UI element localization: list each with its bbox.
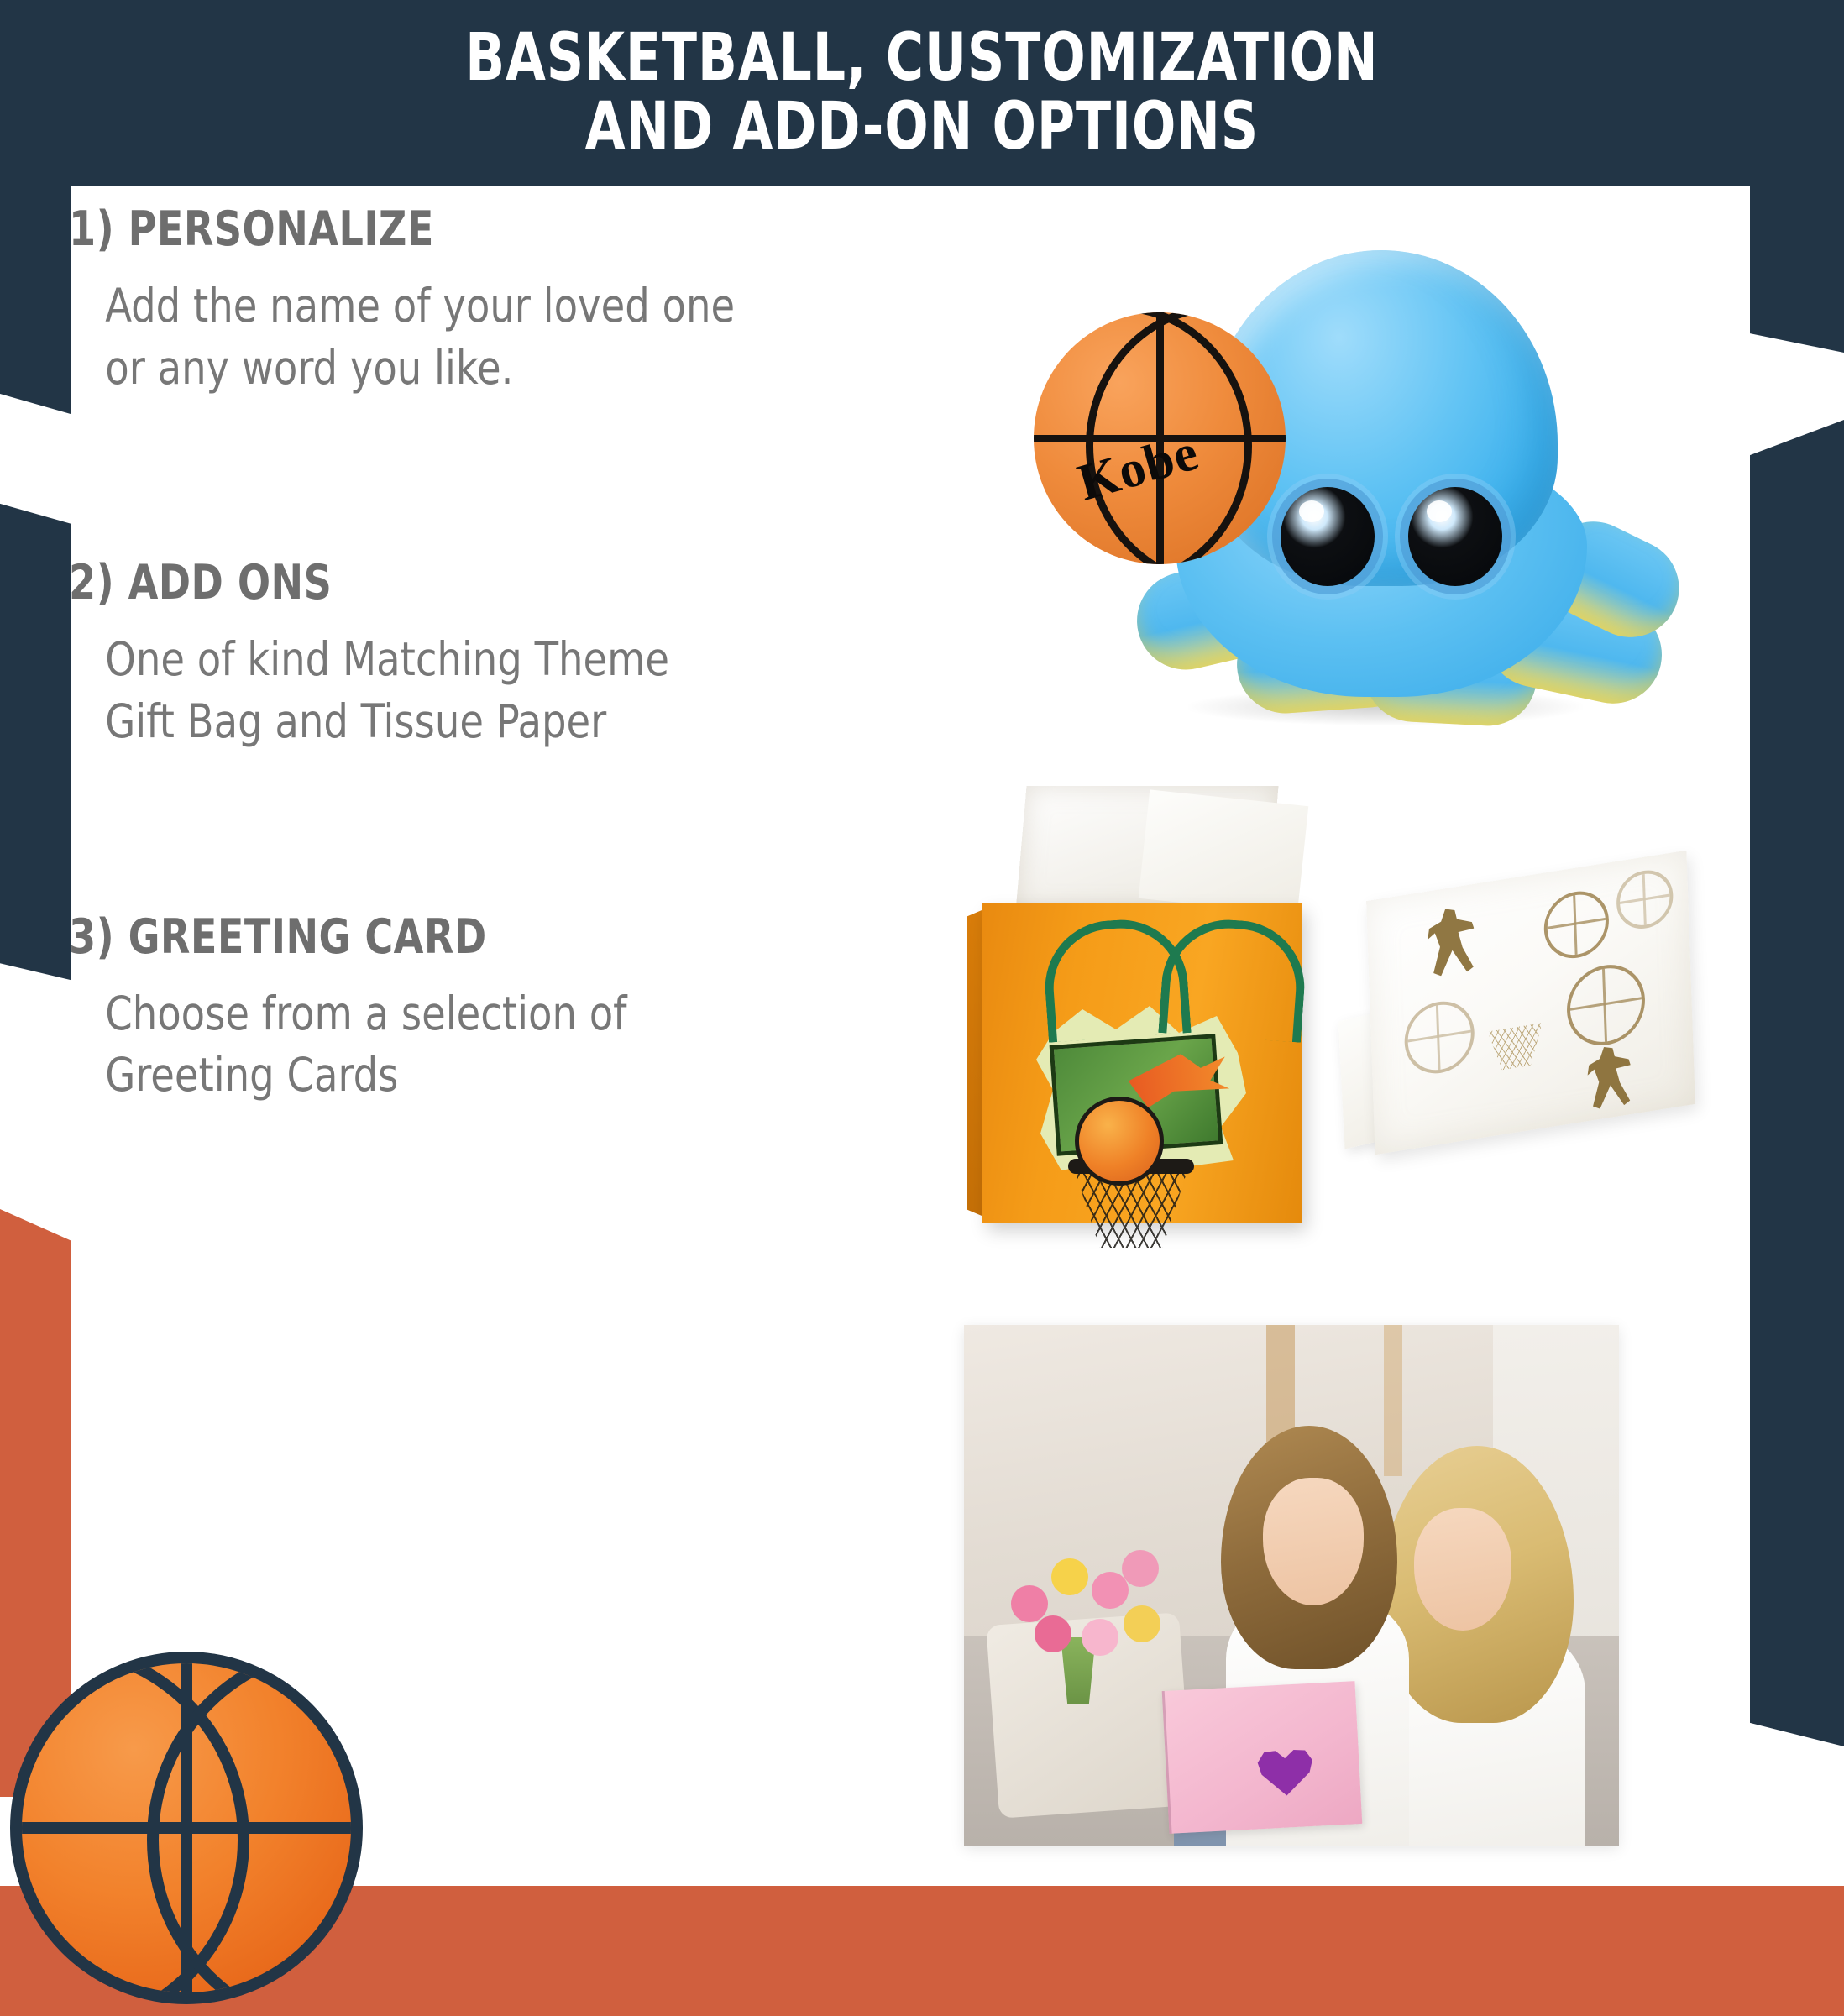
step-body-line: or any word you like.	[105, 338, 889, 400]
page-title-line-2: AND ADD-ON OPTIONS	[585, 93, 1259, 162]
tulip	[1082, 1619, 1118, 1656]
step-item-greeting-card: 3) GREETING CARD Choose from a selection…	[69, 909, 942, 1107]
tissue-paper-image	[1325, 848, 1720, 1201]
photo-face	[1414, 1508, 1511, 1631]
step-title-greeting-card: 3) GREETING CARD	[69, 909, 855, 965]
step-body-line: One of kind Matching Theme	[105, 629, 889, 691]
step-title-personalize: 1) PERSONALIZE	[69, 202, 855, 257]
decor-band-right-bottom	[1738, 420, 1844, 1746]
tissue-motif-player	[1587, 1043, 1632, 1111]
photo-greeting-card	[1162, 1681, 1363, 1834]
tulip	[1092, 1572, 1129, 1609]
tissue-motif-player	[1427, 904, 1475, 977]
tissue-motif-basketball	[1403, 997, 1475, 1079]
step-body-line: Add the name of your loved one	[105, 275, 889, 338]
step-body-line: Choose from a selection of	[105, 983, 889, 1045]
photo-tulip-bouquet	[998, 1535, 1191, 1694]
artwork-basketball	[1075, 1097, 1164, 1186]
gift-bag-image	[967, 786, 1328, 1239]
tissue-motif-basketball	[1565, 959, 1646, 1050]
tulip	[1035, 1615, 1071, 1652]
step-item-personalize: 1) PERSONALIZE Add the name of your love…	[69, 202, 942, 399]
header-banner: BASKETBALL, CUSTOMIZATION AND ADD-ON OPT…	[0, 0, 1844, 186]
tissue-motif-basketball	[1543, 887, 1610, 963]
photo-face	[1263, 1478, 1364, 1605]
steps-list: 1) PERSONALIZE Add the name of your love…	[69, 202, 942, 1107]
basketball-icon	[10, 1652, 363, 2004]
tulip	[1011, 1585, 1048, 1622]
bag-tissue-sheet	[1139, 789, 1309, 914]
plush-basketball: Kobe	[1034, 312, 1286, 564]
tissue-sheet-upper	[1366, 851, 1695, 1155]
octopus-plush-image: Kobe	[1029, 235, 1642, 772]
step-body-greeting-card: Choose from a selection of Greeting Card…	[69, 983, 890, 1107]
tulip	[1122, 1550, 1159, 1587]
heart-icon	[1255, 1744, 1315, 1797]
octopus-eye-right	[1408, 487, 1502, 586]
basketball-seam	[10, 1822, 363, 1834]
infographic-canvas: BASKETBALL, CUSTOMIZATION AND ADD-ON OPT…	[0, 0, 1844, 2016]
step-item-add-ons: 2) ADD ONS One of kind Matching Theme Gi…	[69, 555, 942, 752]
tissue-motif-net	[1488, 1023, 1544, 1072]
decor-band-right-top	[1738, 172, 1844, 353]
step-title-add-ons: 2) ADD ONS	[69, 555, 855, 610]
octopus-eye-left	[1281, 487, 1375, 586]
step-body-line: Greeting Cards	[105, 1045, 889, 1107]
tissue-motif-basketball	[1616, 867, 1674, 933]
step-body-add-ons: One of kind Matching Theme Gift Bag and …	[69, 629, 890, 752]
greeting-card-photo	[964, 1325, 1619, 1846]
step-body-personalize: Add the name of your loved one or any wo…	[69, 275, 890, 399]
tulip	[1051, 1558, 1088, 1595]
basketball-body	[10, 1652, 363, 2004]
step-body-line: Gift Bag and Tissue Paper	[105, 691, 889, 753]
page-title-line-1: BASKETBALL, CUSTOMIZATION	[465, 24, 1378, 93]
tulip	[1124, 1605, 1160, 1642]
